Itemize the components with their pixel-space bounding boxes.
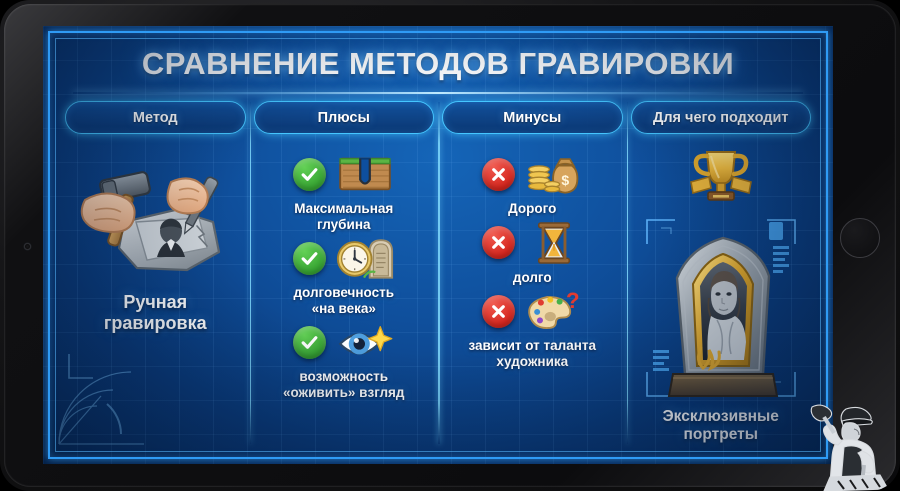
column-divider [250,102,252,444]
pros-text-line1: долговечность [293,285,394,301]
clock-and-stone-tablet-icon [336,236,394,280]
list-item: долго [442,221,623,286]
svg-text:$: $ [561,172,569,188]
green-check-circle-icon [293,326,326,359]
header-label-suited-for: Для чего подходит [653,110,788,126]
monument-display [641,210,801,406]
suited-label-line1: Эксклюзивные [663,408,779,426]
front-camera-icon [24,243,31,250]
pros-text: возможность «оживить» взгляд [283,369,405,400]
suited-for-label: Эксклюзивные портреты [663,408,779,445]
sparkling-eye-icon [336,320,394,364]
list-item: $ [442,152,623,217]
header-label-method: Метод [133,110,178,126]
method-label: Ручная гравировка [104,292,207,333]
pros-text-line2: «на века» [293,301,394,317]
column-method: Ручная гравировка [65,142,246,448]
pros-text: Максимальная глубина [294,201,393,232]
palette-question-mark-icon: ? [525,289,583,333]
red-cross-circle-icon [482,226,515,259]
list-item: ? зависит от таланта художника [442,289,623,369]
cons-list: $ [442,142,623,369]
method-label-line1: Ручная [104,292,207,313]
column-suited-for: Эксклюзивные портреты [631,142,812,448]
header-pill-cons[interactable]: Минусы [442,101,623,134]
column-divider [438,102,440,444]
infographic-screen: СРАВНЕНИЕ МЕТОДОВ ГРАВИРОВКИ Метод Плюсы… [43,26,833,464]
title-bar: СРАВНЕНИЕ МЕТОДОВ ГРАВИРОВКИ [43,46,833,82]
green-check-circle-icon [293,242,326,275]
pros-list: Максимальная глубина [254,142,435,400]
stonemason-with-mallet-icon [802,399,894,491]
pros-text-line1: возможность [283,369,405,385]
title-divider [73,92,803,94]
header-label-pros: Плюсы [318,110,370,126]
method-label-line2: гравировка [104,313,207,334]
cons-text: зависит от таланта художника [468,338,596,369]
header-label-cons: Минусы [503,110,561,126]
cons-text-line2: художника [468,354,596,370]
money-bag-coins-icon: $ [525,152,583,196]
column-cons: $ [442,142,623,448]
pros-text-line2: глубина [294,217,393,233]
list-item: Максимальная глубина [254,152,435,232]
pros-text-line2: «оживить» взгляд [283,385,405,401]
pros-text: долговечность «на века» [293,285,394,316]
red-cross-circle-icon [482,295,515,328]
cons-text-line1: зависит от таланта [468,338,596,354]
pros-text-line1: Максимальная [294,201,393,217]
green-check-circle-icon [293,158,326,191]
page-title: СРАВНЕНИЕ МЕТОДОВ ГРАВИРОВКИ [43,46,833,82]
header-pill-method[interactable]: Метод [65,101,246,134]
wood-groove-depth-icon [336,152,394,196]
comparison-columns: Ручная гравировка [65,142,811,448]
red-cross-circle-icon [482,158,515,191]
suited-label-line2: портреты [663,426,779,444]
list-item: возможность «оживить» взгляд [254,320,435,400]
memorial-monument-portrait-icon [667,226,779,398]
column-pros: Максимальная глубина [254,142,435,448]
svg-text:?: ? [566,289,580,313]
hand-hammer-chisel-stone-portrait-icon [79,160,231,278]
cons-text: долго [513,270,552,286]
column-divider [627,102,629,444]
cons-text: Дорого [508,201,556,217]
header-pill-pros[interactable]: Плюсы [254,101,435,134]
home-button-icon[interactable] [840,218,880,258]
hourglass-icon [525,221,583,265]
header-pill-suited-for[interactable]: Для чего подходит [631,101,812,134]
tablet-device: СРАВНЕНИЕ МЕТОДОВ ГРАВИРОВКИ Метод Плюсы… [0,0,900,491]
blueprint-protractor-arc-icon [49,334,199,454]
list-item: долговечность «на века» [254,236,435,316]
cons-text-line1: Дорого [508,201,556,217]
cons-text-line1: долго [513,270,552,286]
gold-trophy-icon [685,146,757,208]
